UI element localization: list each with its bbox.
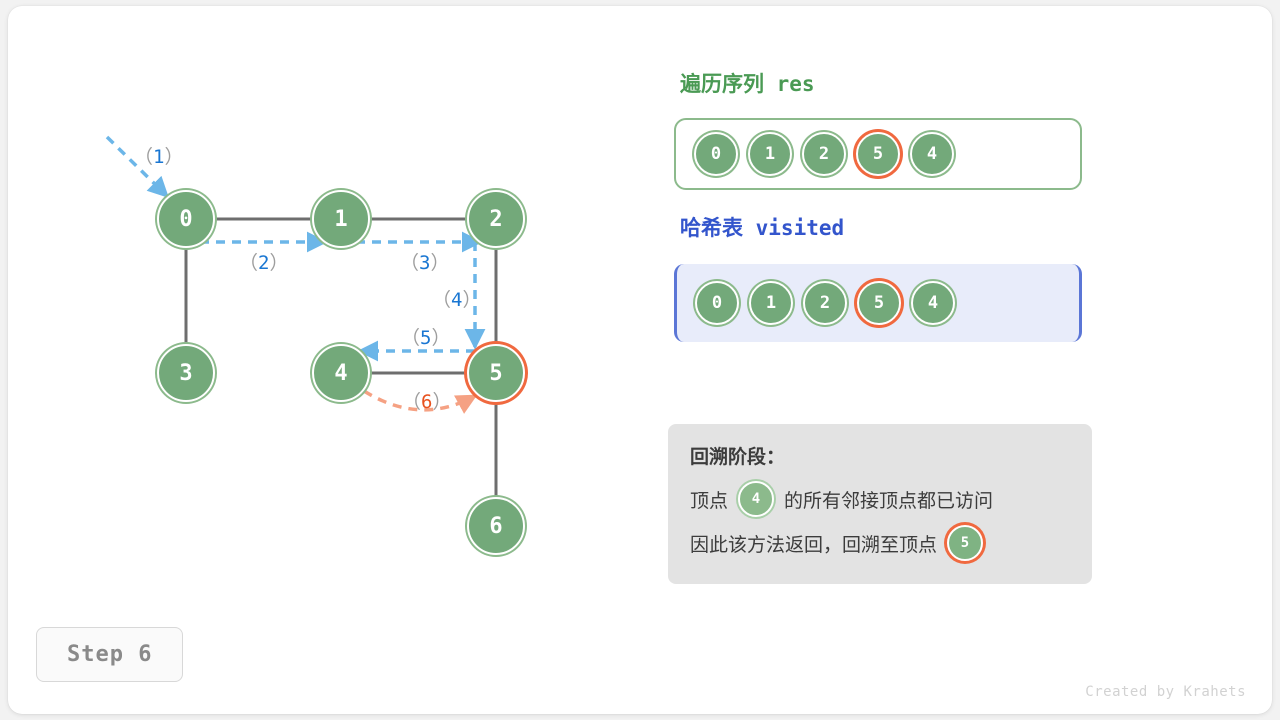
graph-node-1: 1 — [312, 190, 370, 248]
graph-diagram: 0123456 （1）（2）（3）（4）（5）（6） — [8, 6, 668, 714]
note-chip-vertex-4: 4 — [738, 481, 774, 517]
screenshot-canvas: 0123456 （1）（2）（3）（4）（5）（6） 遍历序列 res 0125… — [0, 0, 1280, 720]
res-chip-3: 5 — [856, 132, 900, 176]
visited-chip-row: 01254 — [695, 264, 955, 342]
traversal-step-label-4: （4） — [432, 285, 481, 312]
res-chip-1: 1 — [748, 132, 792, 176]
res-chip-0: 0 — [694, 132, 738, 176]
traversal-step-label-6: （6） — [402, 387, 451, 414]
traversal-step-label-2: （2） — [239, 248, 288, 275]
note-line-1-suffix: 的所有邻接顶点都已访问 — [784, 486, 993, 513]
res-chip-row: 01254 — [694, 120, 954, 188]
visited-chip-1: 1 — [749, 281, 793, 325]
traversal-step-label-3: （3） — [400, 248, 449, 275]
visited-chip-3: 5 — [857, 281, 901, 325]
graph-node-5: 5 — [467, 344, 525, 402]
explanation-note-box: 回溯阶段： 顶点 4 的所有邻接顶点都已访问 因此该方法返回，回溯至顶点 5 — [668, 424, 1092, 584]
res-title: 遍历序列 res — [680, 68, 815, 98]
visited-set-box: 01254 — [674, 264, 1082, 342]
note-line-2-prefix: 因此该方法返回，回溯至顶点 — [690, 530, 937, 557]
res-chip-2: 2 — [802, 132, 846, 176]
traversal-step-label-1: （1） — [134, 142, 183, 169]
note-line-1-prefix: 顶点 — [690, 486, 728, 513]
res-list-box: 01254 — [674, 118, 1082, 190]
res-chip-4: 4 — [910, 132, 954, 176]
credit-text: Created by Krahets — [1085, 684, 1246, 700]
visited-chip-2: 2 — [803, 281, 847, 325]
note-line-1: 顶点 4 的所有邻接顶点都已访问 — [690, 481, 1070, 517]
note-line-2: 因此该方法返回，回溯至顶点 5 — [690, 525, 1070, 561]
note-heading: 回溯阶段： — [690, 442, 1070, 469]
visited-title: 哈希表 visited — [680, 212, 844, 242]
visited-chip-0: 0 — [695, 281, 739, 325]
graph-node-2: 2 — [467, 190, 525, 248]
step-badge: Step 6 — [36, 627, 183, 682]
traversal-step-label-5: （5） — [401, 323, 450, 350]
graph-node-0: 0 — [157, 190, 215, 248]
graph-node-4: 4 — [312, 344, 370, 402]
content-card: 0123456 （1）（2）（3）（4）（5）（6） 遍历序列 res 0125… — [8, 6, 1272, 714]
visited-chip-4: 4 — [911, 281, 955, 325]
graph-node-6: 6 — [467, 497, 525, 555]
graph-node-3: 3 — [157, 344, 215, 402]
note-chip-vertex-5: 5 — [947, 525, 983, 561]
right-panel: 遍历序列 res 01254 哈希表 visited 01254 回溯阶段： 顶… — [668, 6, 1272, 714]
